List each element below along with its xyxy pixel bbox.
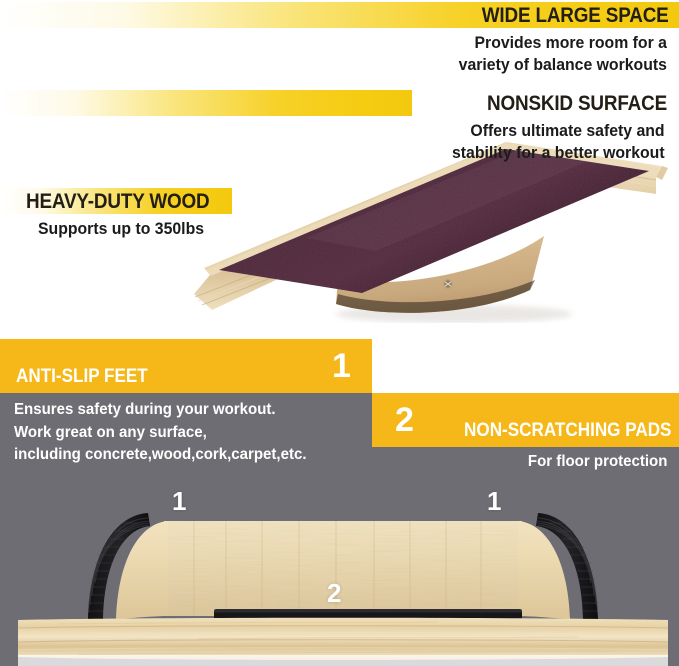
feature-desc-line: Offers ultimate safety and bbox=[452, 120, 665, 142]
callout-marker-foot-left: 1 bbox=[172, 488, 186, 514]
feature-desc-line: Work great on any surface, bbox=[14, 422, 307, 445]
callout-marker-foot-right: 1 bbox=[487, 488, 501, 514]
infographic-page: WIDE LARGE SPACE Provides more room for … bbox=[0, 0, 679, 666]
feature-title-wide-large-space: WIDE LARGE SPACE bbox=[482, 4, 669, 28]
feature-desc-non-scratching-pads: For floor protection bbox=[527, 453, 667, 471]
bottom-feature-section: ANTI-SLIP FEET 1 Ensures safety during y… bbox=[0, 339, 679, 666]
banner-spacer-white bbox=[372, 339, 679, 393]
feature-desc-line: including concrete,wood,cork,carpet,etc. bbox=[14, 444, 307, 467]
feature-desc-nonskid-surface: Offers ultimate safety and stability for… bbox=[452, 120, 665, 164]
feature-desc-line: variety of balance workouts bbox=[459, 54, 667, 76]
feature-desc-line: stability for a better workout bbox=[452, 142, 665, 164]
top-feature-section: WIDE LARGE SPACE Provides more room for … bbox=[0, 0, 679, 339]
highlight-bar-nonskid-surface bbox=[0, 90, 412, 116]
feature-title-nonskid-surface: NONSKID SURFACE bbox=[487, 92, 667, 116]
feature-title-non-scratching-pads: NON-SCRATCHING PADS bbox=[464, 420, 671, 442]
feature-desc-wide-large-space: Provides more room for a variety of bala… bbox=[459, 32, 667, 76]
feature-title-anti-slip-feet: ANTI-SLIP FEET bbox=[16, 366, 148, 388]
feature-desc-line: Ensures safety during your workout. bbox=[14, 399, 307, 422]
feature-desc-line: Provides more room for a bbox=[459, 32, 667, 54]
callout-marker-pad-center: 2 bbox=[327, 580, 341, 606]
feature-title-heavy-duty-wood: HEAVY-DUTY WOOD bbox=[26, 190, 210, 214]
feature-desc-heavy-duty-wood: Supports up to 350lbs bbox=[38, 218, 204, 240]
feature-number-non-scratching-pads: 2 bbox=[395, 403, 414, 437]
feature-desc-anti-slip-feet: Ensures safety during your workout. Work… bbox=[14, 399, 307, 467]
feature-desc-line: Supports up to 350lbs bbox=[38, 218, 204, 240]
feature-number-anti-slip-feet: 1 bbox=[332, 349, 351, 383]
balance-board-underside-image bbox=[18, 479, 668, 666]
